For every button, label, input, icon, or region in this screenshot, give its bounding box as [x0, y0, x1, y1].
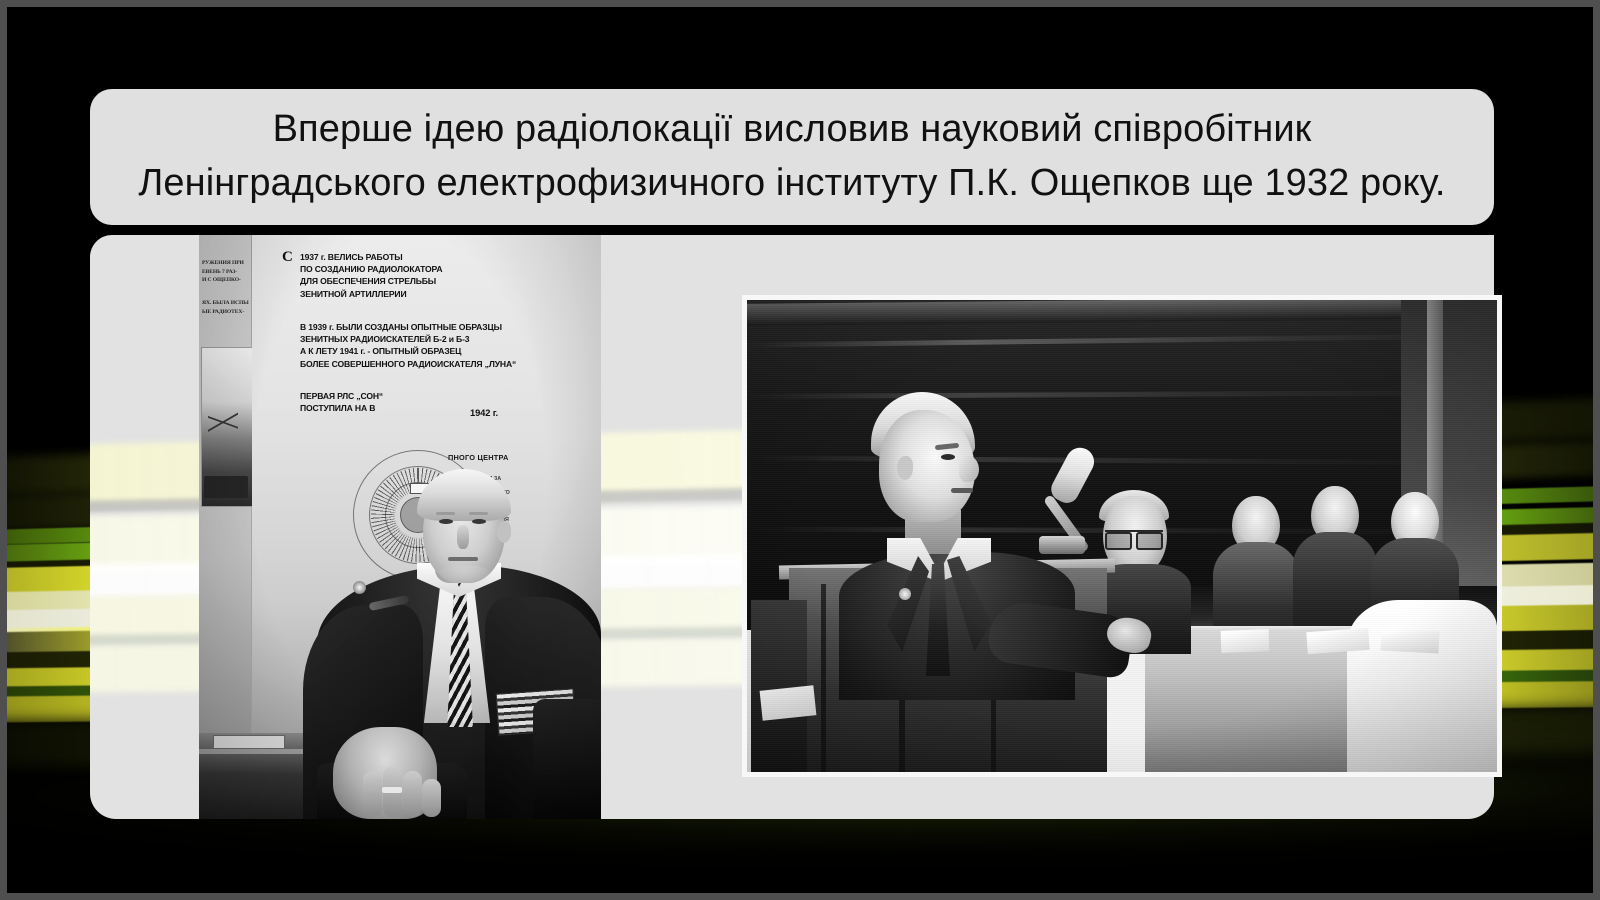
page-title: Вперше ідею радіолокації висловив науков… [94, 103, 1490, 211]
photo-right-grain [747, 300, 1497, 772]
photo-ochepkov-lecture [742, 295, 1502, 777]
photo-right-scene [747, 300, 1497, 772]
photo-left-vignette [199, 235, 601, 819]
slide-canvas: Вперше ідею радіолокації висловив науков… [0, 0, 1600, 900]
photo-ochepkov-portrait: РУЖЕНИЯ ПРИ ЕВЕНЬ 7 РАЗ- И С ОЩЕПКО- ЯХ.… [199, 235, 601, 819]
title-band: Вперше ідею радіолокації висловив науков… [90, 89, 1494, 225]
